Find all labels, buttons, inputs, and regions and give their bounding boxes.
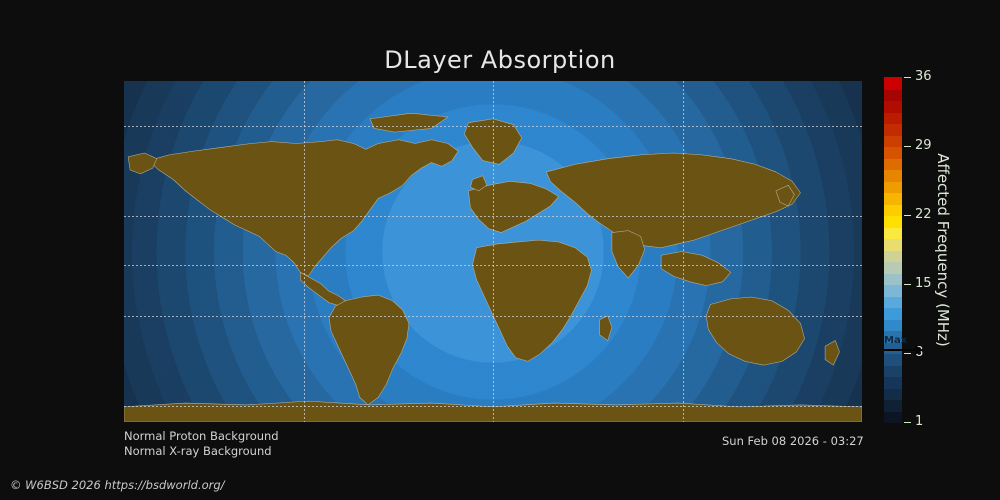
colorbar-tick-mark (904, 215, 911, 216)
colorbar-band (884, 169, 902, 181)
colorbar-band (884, 411, 902, 423)
colorbar-band (884, 123, 902, 135)
max-marker-label: Max (884, 335, 907, 346)
colorbar-band (884, 77, 902, 89)
colorbar-band (884, 388, 902, 400)
colorbar-band (884, 296, 902, 308)
colorbar-band (884, 204, 902, 216)
max-marker-arrow-line (884, 349, 918, 351)
colorbar-band (884, 376, 902, 388)
colorbar-band (884, 307, 902, 319)
colorbar-band (884, 146, 902, 158)
colorbar-tick-mark (904, 77, 911, 78)
colorbar-tick-label: 1 (915, 414, 923, 430)
status-block: Normal Proton Background Normal X-ray Ba… (124, 429, 279, 459)
colorbar-band (884, 89, 902, 101)
status-proton: Normal Proton Background (124, 429, 279, 444)
colorbar-tick-mark (904, 284, 911, 285)
colorbar-axis-label: Affected Frequency (MHz) (932, 70, 954, 430)
colorbar-band (884, 273, 902, 285)
colorbar-tick-label: 36 (915, 69, 932, 85)
colorbar-band (884, 365, 902, 377)
timestamp: Sun Feb 08 2026 - 03:27 (722, 434, 864, 448)
colorbar-band (884, 192, 902, 204)
colorbar-tick-mark (904, 422, 911, 423)
colorbar-tick-label: 29 (915, 138, 932, 154)
colorbar-tick-label: 22 (915, 207, 932, 223)
page-title: DLayer Absorption (0, 46, 1000, 74)
colorbar-band (884, 284, 902, 296)
footer-credit: © W6BSD 2026 https://bsdworld.org/ (10, 478, 225, 492)
colorbar-band (884, 238, 902, 250)
world-coastlines (124, 81, 862, 422)
colorbar-band (884, 181, 902, 193)
colorbar-tick-label: 15 (915, 276, 932, 292)
colorbar-band (884, 158, 902, 170)
colorbar[interactable]: 3629221581 Max (884, 78, 902, 423)
map-panel[interactable] (124, 81, 862, 422)
colorbar-band (884, 135, 902, 147)
max-marker-arrow-head (915, 345, 923, 355)
colorbar-gradient (884, 78, 902, 423)
max-marker: Max (878, 338, 922, 360)
colorbar-band (884, 319, 902, 331)
colorbar-band (884, 100, 902, 112)
status-xray: Normal X-ray Background (124, 444, 279, 459)
colorbar-band (884, 261, 902, 273)
plot-root: DLayer Absorption (0, 0, 1000, 500)
colorbar-band (884, 227, 902, 239)
colorbar-band (884, 250, 902, 262)
colorbar-band (884, 215, 902, 227)
colorbar-band (884, 399, 902, 411)
colorbar-band (884, 112, 902, 124)
colorbar-tick-mark (904, 146, 911, 147)
